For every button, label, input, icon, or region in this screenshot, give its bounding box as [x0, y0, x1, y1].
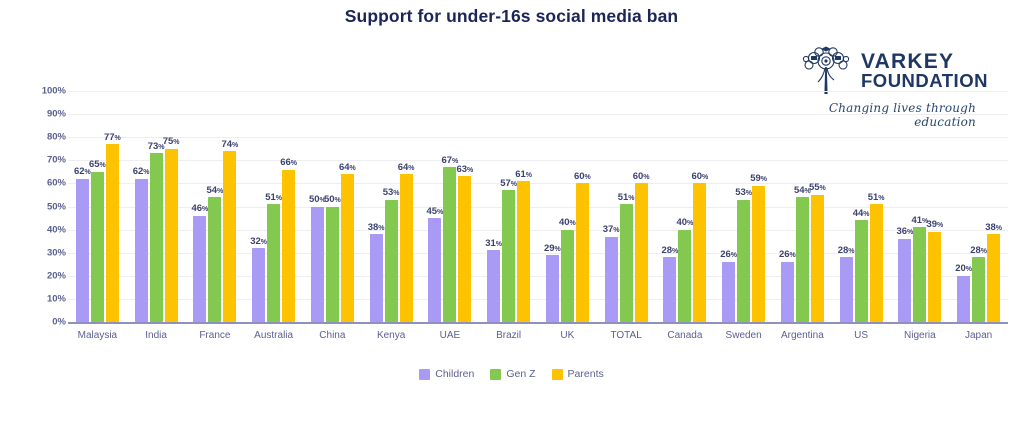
- bar-parents[interactable]: 60%: [693, 183, 706, 322]
- y-axis-tick-label: 20%: [47, 270, 66, 281]
- bar-value-label: 53%: [383, 188, 400, 198]
- bar-gen-z[interactable]: 53%: [385, 200, 398, 322]
- x-axis-tick-label: UK: [538, 330, 597, 348]
- bar-value-label: 66%: [280, 158, 297, 168]
- bar-group: 26%53%59%: [714, 91, 773, 322]
- bar-gen-z[interactable]: 28%: [972, 257, 985, 322]
- bar-parents[interactable]: 66%: [282, 170, 295, 322]
- bar-group: 46%54%74%: [186, 91, 245, 322]
- bar-value-label: 60%: [574, 172, 591, 182]
- y-axis: 100%90%80%70%60%50%40%30%20%10%0%: [26, 84, 66, 329]
- bar-value-label: 62%: [133, 167, 150, 177]
- bar-value-label: 28%: [970, 246, 987, 256]
- bar-value-label: 51%: [618, 193, 635, 203]
- legend-swatch: [419, 369, 430, 380]
- bar-parents[interactable]: 38%: [987, 234, 1000, 322]
- x-axis-tick-label: Japan: [949, 330, 1008, 348]
- x-axis-tick-label: Brazil: [479, 330, 538, 348]
- legend-item-gen-z[interactable]: Gen Z: [490, 368, 535, 380]
- legend-swatch: [490, 369, 501, 380]
- grid-line: [68, 322, 1008, 324]
- y-axis-tick-label: 0%: [52, 317, 66, 328]
- bar-parents[interactable]: 55%: [811, 195, 824, 322]
- bar-children[interactable]: 28%: [663, 257, 676, 322]
- bar-group: 36%41%39%: [891, 91, 950, 322]
- x-axis-tick-label: Canada: [656, 330, 715, 348]
- bar-group: 38%53%64%: [362, 91, 421, 322]
- bar-parents[interactable]: 63%: [458, 176, 471, 322]
- bar-parents[interactable]: 51%: [870, 204, 883, 322]
- bar-value-label: 60%: [691, 172, 708, 182]
- x-axis-tick-label: France: [186, 330, 245, 348]
- bar-gen-z[interactable]: 54%: [208, 197, 221, 322]
- bar-gen-z[interactable]: 40%: [561, 230, 574, 322]
- bar-value-label: 55%: [809, 183, 826, 193]
- chart-legend: ChildrenGen ZParents: [0, 368, 1023, 380]
- bar-gen-z[interactable]: 44%: [855, 220, 868, 322]
- bar-group: 20%28%38%: [949, 91, 1008, 322]
- bar-parents[interactable]: 64%: [400, 174, 413, 322]
- bar-group: 37%51%60%: [597, 91, 656, 322]
- bar-gen-z[interactable]: 54%: [796, 197, 809, 322]
- bar-children[interactable]: 46%: [193, 216, 206, 322]
- bar-value-label: 39%: [926, 220, 943, 230]
- legend-label: Gen Z: [506, 368, 535, 380]
- bar-children[interactable]: 38%: [370, 234, 383, 322]
- bar-value-label: 50%: [324, 195, 341, 205]
- bar-children[interactable]: 20%: [957, 276, 970, 322]
- bar-value-label: 26%: [779, 250, 796, 260]
- bar-value-label: 40%: [559, 218, 576, 228]
- x-axis-tick-label: China: [303, 330, 362, 348]
- bar-value-label: 51%: [265, 193, 282, 203]
- legend-item-parents[interactable]: Parents: [552, 368, 604, 380]
- bar-gen-z[interactable]: 51%: [267, 204, 280, 322]
- bar-gen-z[interactable]: 40%: [678, 230, 691, 322]
- bar-value-label: 77%: [104, 133, 121, 143]
- bar-gen-z[interactable]: 57%: [502, 190, 515, 322]
- bar-group: 26%54%55%: [773, 91, 832, 322]
- bar-group: 29%40%60%: [538, 91, 597, 322]
- bar-parents[interactable]: 64%: [341, 174, 354, 322]
- bar-gen-z[interactable]: 51%: [620, 204, 633, 322]
- legend-item-children[interactable]: Children: [419, 368, 474, 380]
- x-axis-tick-label: India: [127, 330, 186, 348]
- x-axis-tick-label: TOTAL: [597, 330, 656, 348]
- bar-parents[interactable]: 75%: [165, 149, 178, 322]
- bar-children[interactable]: 50%: [311, 207, 324, 323]
- y-axis-tick-label: 90%: [47, 109, 66, 120]
- bar-parents[interactable]: 77%: [106, 144, 119, 322]
- bar-value-label: 28%: [661, 246, 678, 256]
- bar-gen-z[interactable]: 53%: [737, 200, 750, 322]
- y-axis-tick-label: 10%: [47, 293, 66, 304]
- x-axis-tick-label: Sweden: [714, 330, 773, 348]
- y-axis-tick-label: 60%: [47, 178, 66, 189]
- x-axis-tick-label: UAE: [421, 330, 480, 348]
- bar-children[interactable]: 26%: [781, 262, 794, 322]
- bar-parents[interactable]: 39%: [928, 232, 941, 322]
- bar-value-label: 28%: [838, 246, 855, 256]
- bar-group: 45%67%63%: [421, 91, 480, 322]
- bar-group: 62%73%75%: [127, 91, 186, 322]
- bar-group: 62%65%77%: [68, 91, 127, 322]
- bar-parents[interactable]: 59%: [752, 186, 765, 322]
- bar-value-label: 32%: [250, 237, 267, 247]
- legend-swatch: [552, 369, 563, 380]
- bar-parents[interactable]: 61%: [517, 181, 530, 322]
- bar-children[interactable]: 45%: [428, 218, 441, 322]
- bar-value-label: 61%: [515, 170, 532, 180]
- bar-value-label: 64%: [398, 163, 415, 173]
- bar-gen-z[interactable]: 73%: [150, 153, 163, 322]
- x-axis-tick-label: Argentina: [773, 330, 832, 348]
- bar-value-label: 45%: [426, 207, 443, 217]
- bar-value-label: 57%: [500, 179, 517, 189]
- bar-value-label: 64%: [339, 163, 356, 173]
- bar-value-label: 36%: [896, 227, 913, 237]
- bar-children[interactable]: 36%: [898, 239, 911, 322]
- bar-value-label: 38%: [368, 223, 385, 233]
- bar-groups: 62%65%77%62%73%75%46%54%74%32%51%66%50%5…: [68, 91, 1008, 322]
- legend-label: Children: [435, 368, 474, 380]
- bar-children[interactable]: 28%: [840, 257, 853, 322]
- bar-value-label: 29%: [544, 244, 561, 254]
- x-axis-tick-label: Nigeria: [891, 330, 950, 348]
- bar-children[interactable]: 29%: [546, 255, 559, 322]
- bar-value-label: 51%: [868, 193, 885, 203]
- bar-value-label: 20%: [955, 264, 972, 274]
- y-axis-tick-label: 70%: [47, 155, 66, 166]
- bar-value-label: 65%: [89, 160, 106, 170]
- bar-value-label: 46%: [191, 204, 208, 214]
- bar-value-label: 74%: [221, 140, 238, 150]
- bar-gen-z[interactable]: 50%: [326, 207, 339, 323]
- x-axis-tick-label: US: [832, 330, 891, 348]
- bar-group: 28%44%51%: [832, 91, 891, 322]
- bar-parents[interactable]: 60%: [635, 183, 648, 322]
- bar-children[interactable]: 32%: [252, 248, 265, 322]
- bar-value-label: 63%: [456, 165, 473, 175]
- y-axis-tick-label: 50%: [47, 201, 66, 212]
- y-axis-tick-label: 80%: [47, 132, 66, 143]
- bar-gen-z[interactable]: 41%: [913, 227, 926, 322]
- x-axis-tick-label: Kenya: [362, 330, 421, 348]
- bar-children[interactable]: 26%: [722, 262, 735, 322]
- y-axis-tick-label: 100%: [42, 86, 66, 97]
- bar-value-label: 38%: [985, 223, 1002, 233]
- bar-group: 31%57%61%: [479, 91, 538, 322]
- y-axis-tick-label: 30%: [47, 247, 66, 258]
- bar-children[interactable]: 31%: [487, 250, 500, 322]
- bar-children[interactable]: 37%: [605, 237, 618, 322]
- legend-label: Parents: [568, 368, 604, 380]
- bar-value-label: 59%: [750, 174, 767, 184]
- bar-group: 28%40%60%: [656, 91, 715, 322]
- x-axis: MalaysiaIndiaFranceAustraliaChinaKenyaUA…: [68, 330, 1008, 348]
- bar-parents[interactable]: 60%: [576, 183, 589, 322]
- bar-value-label: 44%: [853, 209, 870, 219]
- bar-group: 50%50%64%: [303, 91, 362, 322]
- bar-gen-z[interactable]: 65%: [91, 172, 104, 322]
- bar-value-label: 31%: [485, 239, 502, 249]
- bar-value-label: 75%: [163, 137, 180, 147]
- bar-value-label: 54%: [206, 186, 223, 196]
- x-axis-tick-label: Malaysia: [68, 330, 127, 348]
- bar-value-label: 37%: [603, 225, 620, 235]
- y-axis-tick-label: 40%: [47, 224, 66, 235]
- bar-value-label: 26%: [720, 250, 737, 260]
- bar-children[interactable]: 62%: [76, 179, 89, 322]
- bar-value-label: 40%: [676, 218, 693, 228]
- bar-gen-z[interactable]: 67%: [443, 167, 456, 322]
- bar-parents[interactable]: 74%: [223, 151, 236, 322]
- bar-value-label: 53%: [735, 188, 752, 198]
- bar-group: 32%51%66%: [244, 91, 303, 322]
- bar-children[interactable]: 62%: [135, 179, 148, 322]
- bar-value-label: 60%: [633, 172, 650, 182]
- x-axis-tick-label: Australia: [244, 330, 303, 348]
